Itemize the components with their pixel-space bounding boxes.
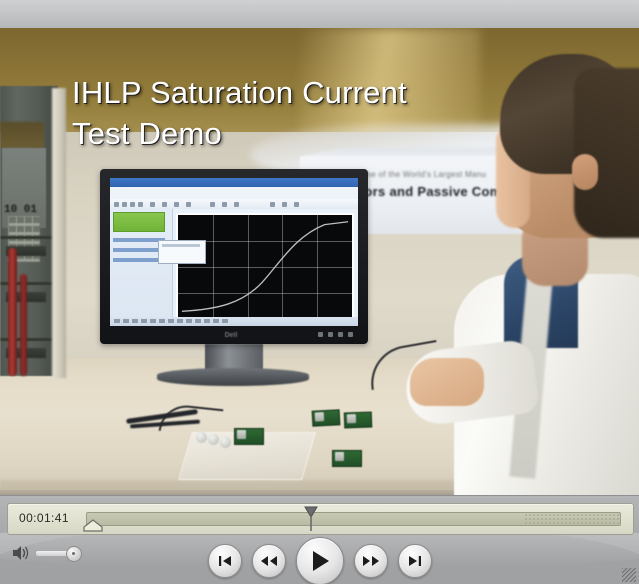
toolbar-icon [282, 202, 287, 207]
toolbar-icon [222, 202, 227, 207]
hair-back [574, 68, 639, 238]
app-statusbar [110, 317, 358, 326]
rack-key [9, 217, 16, 223]
rack-key [17, 217, 24, 223]
technician [396, 28, 639, 495]
app-status-indicator [113, 212, 165, 232]
chapter-marker-icon[interactable] [82, 518, 104, 532]
playhead-handle[interactable] [304, 506, 318, 532]
statusbar-segment [114, 319, 120, 323]
rack-seam [0, 236, 58, 239]
rack-top-door [0, 122, 44, 148]
app-titlebar [110, 178, 358, 187]
statusbar-segment [141, 319, 147, 323]
inductor-board [312, 409, 341, 426]
rack-key [33, 226, 40, 232]
inductor-board [234, 428, 264, 445]
statusbar-segment [168, 319, 174, 323]
monitor-osd-button[interactable] [328, 332, 333, 337]
statusbar-segment [177, 319, 183, 323]
red-cable-secondary [20, 274, 27, 376]
video-player-window: One of the World's Largest Manu uctors a… [0, 0, 639, 584]
monitor-stand-base [157, 368, 309, 386]
statusbar-segment [150, 319, 156, 323]
ear [572, 154, 598, 190]
rack-key [33, 217, 40, 223]
toolbar-icon [270, 202, 275, 207]
window-top-bar [0, 0, 639, 29]
inductor-board [344, 412, 373, 429]
monitor-osd-button[interactable] [318, 332, 323, 337]
rack-key [25, 226, 32, 232]
test-clip [208, 434, 219, 445]
inductor-component [347, 414, 356, 423]
inductor-board [332, 450, 362, 467]
rack-display: 10 01 [4, 204, 37, 216]
app-toolbar [110, 199, 358, 209]
toolbar-icon [122, 202, 127, 207]
rack-side-panel [52, 88, 66, 378]
red-cable [8, 248, 17, 376]
dialog-row [162, 244, 200, 247]
skip-forward-button[interactable] [398, 544, 432, 578]
monitor-stand-neck [205, 344, 263, 370]
rack-key [25, 217, 32, 223]
toolbar-icon [150, 202, 155, 207]
monitor-screen [110, 178, 358, 326]
test-clip [220, 437, 231, 448]
monitor-osd-button[interactable] [348, 332, 353, 337]
fast-forward-button[interactable] [354, 544, 388, 578]
window-resize-grip[interactable] [622, 568, 636, 582]
monitor-osd-button[interactable] [338, 332, 343, 337]
statusbar-segment [123, 319, 129, 323]
video-stage[interactable]: One of the World's Largest Manu uctors a… [0, 28, 639, 495]
statusbar-segment [186, 319, 192, 323]
plot-gridline-horizontal [178, 293, 352, 294]
statusbar-segment [222, 319, 228, 323]
monitor-button-row[interactable] [318, 332, 360, 339]
rewind-button[interactable] [252, 544, 286, 578]
player-control-bar: 00:01:41 [0, 495, 639, 584]
timecode-display: 00:01:41 [19, 511, 69, 525]
scrubber-panel[interactable]: 00:01:41 [7, 503, 634, 535]
play-button[interactable] [296, 537, 344, 584]
skip-back-button[interactable] [208, 544, 242, 578]
rack-front-panel [2, 148, 46, 228]
inductor-component [315, 412, 324, 421]
inductor-component [237, 430, 246, 439]
toolbar-icon [234, 202, 239, 207]
monitor-brand-logo: Dell [218, 332, 244, 340]
plot-gridline-horizontal [178, 267, 352, 268]
transport-controls [0, 538, 639, 584]
statusbar-segment [159, 319, 165, 323]
unbuffered-region [524, 513, 620, 525]
inductor-component [335, 452, 344, 461]
app-dialog [158, 240, 206, 264]
test-clip [196, 432, 207, 443]
measurement-plot [176, 213, 354, 321]
statusbar-segment [132, 319, 138, 323]
statusbar-segment [204, 319, 210, 323]
statusbar-segment [195, 319, 201, 323]
toolbar-icon [138, 202, 143, 207]
rack-key [17, 226, 24, 232]
toolbar-icon [162, 202, 167, 207]
toolbar-icon [210, 202, 215, 207]
toolbar-icon [174, 202, 179, 207]
toolbar-icon [114, 202, 119, 207]
toolbar-icon [130, 202, 135, 207]
toolbar-icon [294, 202, 299, 207]
hand [410, 358, 484, 406]
statusbar-segment [213, 319, 219, 323]
toolbar-icon [186, 202, 191, 207]
computer-monitor: Dell [100, 169, 368, 344]
seek-track[interactable] [86, 512, 621, 526]
rack-key [9, 226, 16, 232]
